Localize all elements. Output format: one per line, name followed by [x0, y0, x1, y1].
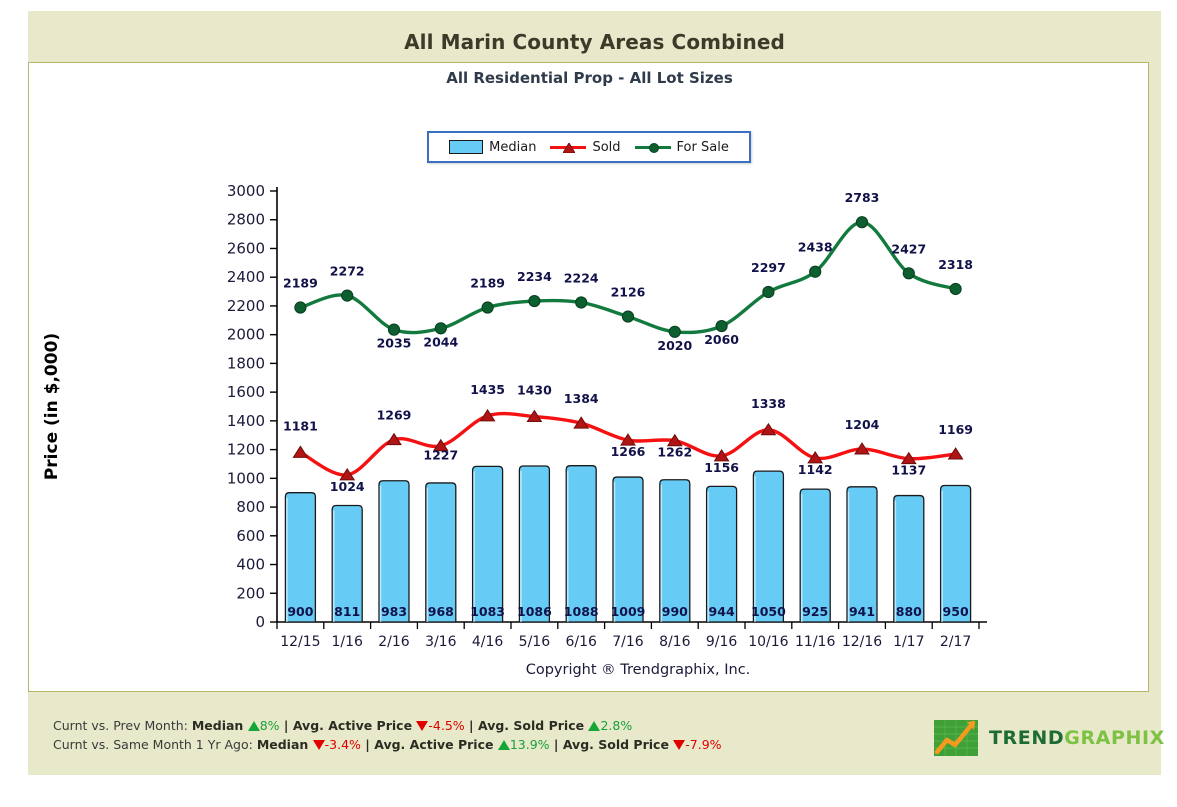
footer-metric-label: Avg. Active Price	[293, 718, 417, 733]
bar[interactable]	[753, 471, 783, 622]
footer-metric-label: Avg. Active Price	[374, 737, 498, 752]
footer-separator: |	[550, 737, 563, 752]
series-marker[interactable]	[482, 302, 493, 313]
bar-value-label: 941	[849, 604, 875, 619]
bar-group[interactable]: 990	[660, 480, 690, 622]
trendgraphix-logo[interactable]: TRENDGRAPHIX	[933, 715, 1139, 761]
bar-value-label: 925	[802, 604, 828, 619]
series-value-label: 1181	[283, 418, 318, 433]
series-value-label: 2020	[657, 338, 692, 353]
x-axis-tick-label: 3/16	[425, 634, 457, 650]
bar[interactable]	[660, 480, 690, 622]
x-axis-tick-label: 12/15	[280, 634, 320, 650]
series-value-label: 2783	[845, 190, 880, 205]
page-root: All Marin County Areas Combined All Resi…	[0, 0, 1177, 807]
footer-metric-label: Avg. Sold Price	[478, 718, 588, 733]
x-axis-tick-label: 1/16	[331, 634, 363, 650]
series-marker[interactable]	[576, 297, 587, 308]
bar-value-label: 811	[334, 604, 360, 619]
bar[interactable]	[566, 466, 596, 622]
footer-metric-value: -3.4%	[325, 737, 361, 752]
bar-value-label: 950	[943, 604, 969, 619]
bar-value-label: 990	[662, 604, 688, 619]
x-axis-tick-label: 8/16	[659, 634, 691, 650]
series-value-label: 2234	[517, 269, 552, 284]
series-value-label: 1142	[798, 462, 833, 477]
arrow-up-icon	[498, 740, 510, 750]
bar-group[interactable]: 1050	[751, 471, 786, 622]
series-marker[interactable]	[342, 290, 353, 301]
series-value-label: 1384	[564, 391, 599, 406]
y-axis-tick-label: 2800	[227, 211, 265, 229]
y-axis-tick-label: 400	[236, 556, 265, 574]
bar[interactable]	[285, 493, 315, 622]
arrow-down-icon	[416, 721, 428, 731]
x-axis-tick-label: 2/17	[940, 634, 971, 650]
footer-metric-label: Median	[257, 737, 313, 752]
series-value-label: 1137	[891, 463, 926, 478]
y-axis-tick-label: 200	[236, 584, 265, 602]
bar-group[interactable]: 1086	[517, 466, 552, 622]
series-marker[interactable]	[763, 286, 774, 297]
x-axis-tick-label: 4/16	[472, 634, 504, 650]
bar[interactable]	[473, 466, 503, 622]
y-axis-tick-label: 0	[255, 613, 265, 631]
chart-plot-area: 0200400600800100012001400160018002000220…	[29, 63, 1150, 693]
footer-line-1: Curnt vs. Prev Month: Median 8% | Avg. A…	[53, 716, 813, 735]
y-axis-tick-label: 2000	[227, 326, 265, 344]
bar-value-label: 983	[381, 604, 407, 619]
bar-group[interactable]: 1083	[470, 466, 505, 622]
bar-value-label: 968	[428, 604, 454, 619]
x-axis-tick-label: 1/17	[893, 634, 924, 650]
line-series-for-sale: 2189227220352044218922342224212620202060…	[283, 190, 973, 353]
series-value-label: 1227	[423, 448, 458, 463]
series-value-label: 2272	[330, 264, 365, 279]
footer-separator: |	[280, 718, 293, 733]
footer-metric-label: Avg. Sold Price	[563, 737, 673, 752]
series-value-label: 1338	[751, 396, 786, 411]
series-marker[interactable]	[903, 268, 914, 279]
series-value-label: 2189	[470, 276, 505, 291]
bar[interactable]	[800, 489, 830, 622]
bar[interactable]	[613, 477, 643, 622]
y-axis-tick-label: 3000	[227, 182, 265, 200]
y-axis-tick-label: 1800	[227, 354, 265, 372]
series-marker[interactable]	[856, 217, 867, 228]
bar[interactable]	[519, 466, 549, 622]
footer-metric-value: -4.5%	[428, 718, 464, 733]
footer-metric-value: 8%	[260, 718, 280, 733]
series-value-label: 1435	[470, 382, 505, 397]
chart-panel: All Residential Prop - All Lot Sizes Med…	[28, 62, 1149, 692]
series-value-label: 1262	[657, 445, 692, 460]
bar-group[interactable]: 1088	[564, 466, 599, 622]
bar-group[interactable]: 983	[379, 481, 409, 622]
bar[interactable]	[426, 483, 456, 622]
footer-metric-value: -7.9%	[685, 737, 721, 752]
series-marker[interactable]	[669, 326, 680, 337]
chart-copyright: Copyright ® Trendgraphix, Inc.	[526, 662, 751, 678]
series-value-label: 2427	[891, 241, 926, 256]
bar-group[interactable]: 944	[707, 486, 737, 622]
series-value-label: 1430	[517, 383, 552, 398]
bar-group[interactable]: 1009	[611, 477, 646, 622]
bar-value-label: 1009	[611, 604, 646, 619]
series-marker[interactable]	[435, 323, 446, 334]
series-marker[interactable]	[388, 324, 399, 335]
series-marker[interactable]	[810, 266, 821, 277]
x-axis-tick-label: 6/16	[565, 634, 597, 650]
bar[interactable]	[941, 486, 971, 622]
bar[interactable]	[847, 487, 877, 622]
bar-group[interactable]: 900	[285, 493, 315, 622]
x-axis-tick-label: 7/16	[612, 634, 644, 650]
bar-group[interactable]: 968	[426, 483, 456, 622]
bar-group[interactable]: 811	[332, 505, 362, 622]
footer-line-prefix: Curnt vs. Same Month 1 Yr Ago:	[53, 737, 257, 752]
x-axis-tick-label: 5/16	[519, 634, 551, 650]
series-marker[interactable]	[622, 311, 633, 322]
bar-value-label: 1083	[470, 604, 505, 619]
series-value-label: 1266	[611, 444, 646, 459]
x-axis-tick-label: 10/16	[748, 634, 788, 650]
y-axis-tick-label: 1600	[227, 383, 265, 401]
series-value-label: 2438	[798, 240, 833, 255]
logo-wordmark: TRENDGRAPHIX	[989, 727, 1165, 749]
footer-stats: Curnt vs. Prev Month: Median 8% | Avg. A…	[53, 716, 813, 754]
y-axis-tick-label: 2600	[227, 239, 265, 257]
series-value-label: 2189	[283, 276, 318, 291]
bar-group[interactable]: 941	[847, 487, 877, 622]
series-marker[interactable]	[293, 446, 307, 457]
series-marker[interactable]	[950, 283, 961, 294]
series-marker[interactable]	[716, 320, 727, 331]
logo-text-trend: TREND	[989, 727, 1064, 749]
footer-metric-label: Median	[192, 718, 248, 733]
logo-text-graphix: GRAPHIX	[1064, 727, 1165, 749]
y-axis-tick-label: 2200	[227, 297, 265, 315]
series-value-label: 2297	[751, 260, 786, 275]
footer-line-2: Curnt vs. Same Month 1 Yr Ago: Median -3…	[53, 735, 813, 754]
footer-metric-value: 13.9%	[510, 737, 550, 752]
arrow-down-icon	[673, 740, 685, 750]
y-axis-title: Price (in $,000)	[42, 333, 62, 480]
bar-group[interactable]: 880	[894, 496, 924, 622]
bar-value-label: 900	[287, 604, 313, 619]
y-axis-tick-label: 1400	[227, 412, 265, 430]
x-axis-tick-label: 9/16	[706, 634, 738, 650]
y-axis-tick-label: 1000	[227, 469, 265, 487]
y-axis-tick-label: 2400	[227, 268, 265, 286]
arrow-down-icon	[313, 740, 325, 750]
bar-value-label: 1088	[564, 604, 599, 619]
y-axis-tick-label: 800	[236, 498, 265, 516]
series-value-label: 2126	[611, 285, 646, 300]
series-value-label: 1169	[938, 422, 973, 437]
y-axis-tick-label: 1200	[227, 441, 265, 459]
bar-value-label: 1050	[751, 604, 786, 619]
bar-group[interactable]: 925	[800, 489, 830, 622]
series-marker[interactable]	[295, 302, 306, 313]
page-title: All Marin County Areas Combined	[28, 30, 1161, 54]
x-axis-tick-label: 2/16	[378, 634, 410, 650]
series-value-label: 2318	[938, 257, 973, 272]
series-marker[interactable]	[529, 295, 540, 306]
footer-line-prefix: Curnt vs. Prev Month:	[53, 718, 192, 733]
series-value-label: 2060	[704, 332, 739, 347]
x-axis-tick-label: 12/16	[842, 634, 882, 650]
bar-value-label: 1086	[517, 604, 552, 619]
bar[interactable]	[707, 486, 737, 622]
footer-separator: |	[465, 718, 478, 733]
series-value-label: 2044	[423, 334, 458, 349]
series-value-label: 2224	[564, 270, 599, 285]
footer-separator: |	[361, 737, 374, 752]
bar-value-label: 880	[896, 604, 922, 619]
bar-value-label: 944	[709, 604, 735, 619]
bar-group[interactable]: 950	[941, 486, 971, 622]
series-value-label: 2035	[377, 336, 412, 351]
arrow-up-icon	[248, 721, 260, 731]
footer-metric-value: 2.8%	[600, 718, 632, 733]
y-axis-tick-label: 600	[236, 527, 265, 545]
x-axis-tick-label: 11/16	[795, 634, 835, 650]
series-value-label: 1024	[330, 479, 365, 494]
series-value-label: 1269	[377, 408, 412, 423]
series-value-label: 1156	[704, 460, 739, 475]
series-value-label: 1204	[845, 417, 880, 432]
bar[interactable]	[379, 481, 409, 622]
arrow-up-icon	[588, 721, 600, 731]
logo-chart-icon	[933, 718, 979, 758]
